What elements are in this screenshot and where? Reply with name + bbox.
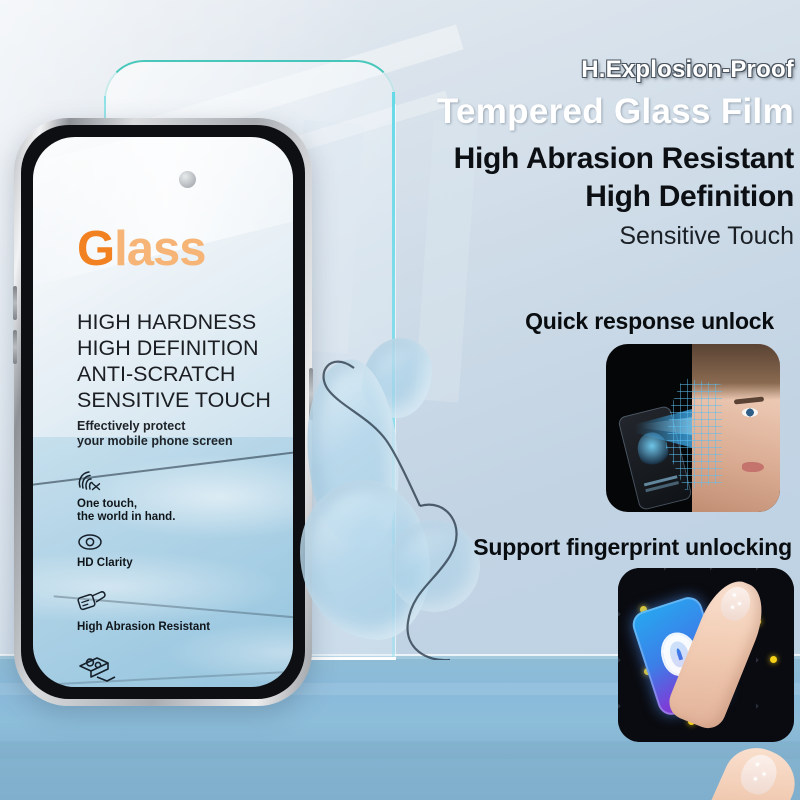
header-high-abrasion-resistant: High Abrasion Resistant — [454, 142, 794, 176]
fingernail — [716, 583, 755, 625]
fingernail — [735, 749, 782, 799]
header-sensitive-touch: Sensitive Touch — [619, 222, 794, 251]
nail-gem — [753, 777, 757, 781]
nail-gem — [762, 772, 766, 776]
phone-screen: Glass HIGH HARDNESS HIGH DEFINITION ANTI… — [33, 137, 293, 687]
screen-feature-item: SENSITIVE TOUCH — [77, 387, 271, 413]
water-sculpture-artwork — [300, 330, 480, 660]
face-scan-text-lines — [644, 475, 678, 486]
nail-gem — [738, 602, 742, 606]
phone-mockup: Glass HIGH HARDNESS HIGH DEFINITION ANTI… — [14, 118, 312, 706]
note-line-1: Effectively protect — [77, 419, 233, 434]
brand-wordmark-rest: lass — [114, 222, 205, 276]
brand-wordmark: Glass — [77, 225, 206, 274]
screen-feature-item: HIGH HARDNESS — [77, 309, 271, 335]
face-model-eye — [742, 408, 758, 417]
phone-bezel: Glass HIGH HARDNESS HIGH DEFINITION ANTI… — [21, 125, 305, 699]
screen-feature-list: HIGH HARDNESS HIGH DEFINITION ANTI-SCRAT… — [77, 309, 271, 413]
icon-row-label-line2: the world in hand. — [77, 511, 175, 523]
screen-icon-row-abrasion: High Abrasion Resistant — [77, 589, 210, 633]
screen-protection-note: Effectively protect your mobile phone sc… — [77, 419, 233, 449]
header-high-definition: High Definition — [585, 180, 794, 214]
screen-icon-row-auto-absorb: absord mobile screen automatically — [77, 655, 273, 687]
section-title-quick-response-unlock: Quick response unlock — [525, 308, 774, 335]
icon-row-label-line1: High Abrasion Resistant — [77, 621, 210, 633]
touch-fingerprint-icon — [77, 469, 103, 493]
glass-edge-top — [104, 60, 396, 104]
volume-up-button — [13, 286, 17, 320]
icon-row-label-line1: One touch, — [77, 497, 175, 511]
icon-row-label-line1: HD Clarity — [77, 557, 133, 569]
screen-icon-row-one-touch: One touch, the world in hand. — [77, 469, 175, 523]
volume-down-button — [13, 330, 17, 364]
face-unlock-panel — [606, 344, 780, 512]
auto-absorb-icon — [77, 655, 123, 687]
face-model-lips — [742, 462, 764, 472]
scratch-resist-icon — [77, 589, 107, 615]
sculpture-outline — [300, 330, 480, 660]
screen-feature-item: HIGH DEFINITION — [77, 335, 271, 361]
section-title-support-fingerprint-unlocking: Support fingerprint unlocking — [473, 534, 792, 561]
header-explosion-proof: H.Explosion-Proof — [581, 56, 794, 84]
eye-icon — [77, 533, 103, 551]
circuit-node-dot — [770, 656, 777, 663]
brand-wordmark-g: G — [77, 222, 114, 276]
screen-icon-row-hd-clarity: HD Clarity — [77, 533, 133, 569]
nail-gem — [731, 605, 735, 609]
nail-gem — [755, 762, 759, 766]
advertisement-stage: Glass HIGH HARDNESS HIGH DEFINITION ANTI… — [0, 0, 800, 800]
header-tempered-glass-film: Tempered Glass Film — [437, 92, 794, 132]
screen-feature-item: ANTI-SCRATCH — [77, 361, 271, 387]
fingerprint-unlock-panel — [618, 568, 794, 742]
note-line-2: your mobile phone screen — [77, 434, 233, 449]
nail-gem — [732, 593, 736, 597]
